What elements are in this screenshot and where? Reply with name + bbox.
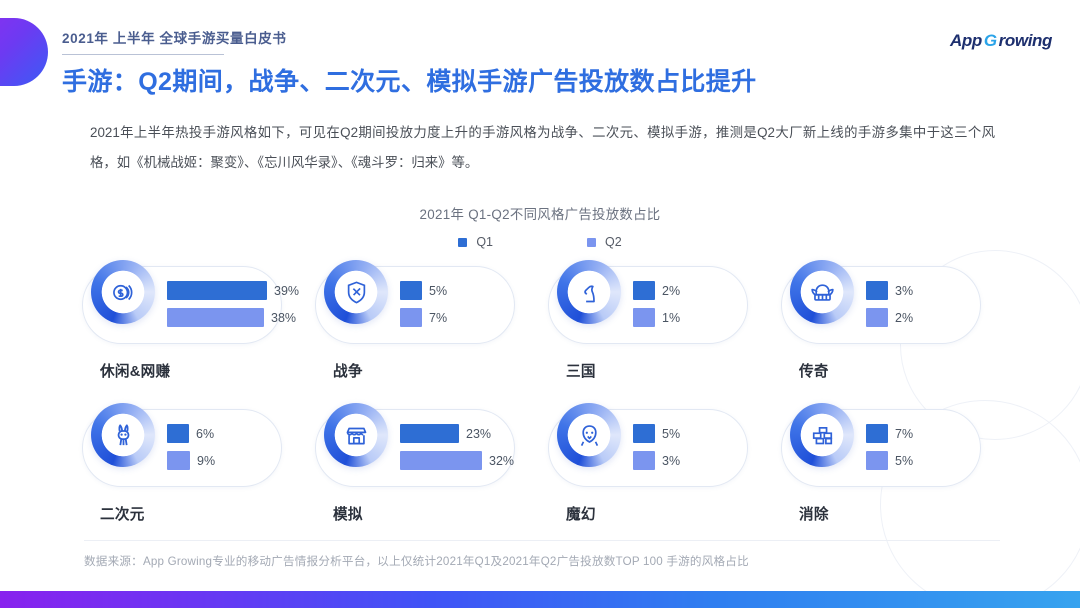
bar-q2 <box>400 451 482 470</box>
genre-bars: 5%3% <box>633 424 741 474</box>
genre-bars: 39%38% <box>167 281 275 331</box>
genre-pill[interactable]: 7%5% <box>781 409 981 487</box>
genre-label: 三国 <box>566 360 769 381</box>
bar-value-q1: 2% <box>662 284 680 298</box>
chart-legend: Q1 Q2 <box>0 235 1080 249</box>
intro-paragraph: 2021年上半年热投手游风格如下，可见在Q2期间投放力度上升的手游风格为战争、二… <box>90 118 995 178</box>
bar-value-q1: 23% <box>466 427 491 441</box>
genre-bars: 6%9% <box>167 424 275 474</box>
bar-row-q1: 6% <box>167 424 275 443</box>
genre-label: 休闲&网赚 <box>100 360 303 381</box>
bar-value-q2: 38% <box>271 311 296 325</box>
genre-bars: 23%32% <box>400 424 508 474</box>
chart-title: 2021年 Q1-Q2不同风格广告投放数占比 <box>0 203 1080 223</box>
genre-label: 模拟 <box>333 503 536 524</box>
bar-q1 <box>633 281 655 300</box>
genre-cell: 7%5%消除 <box>781 409 1002 524</box>
knight-chess-icon <box>557 260 621 324</box>
genre-pill[interactable]: 23%32% <box>315 409 515 487</box>
genre-bars: 7%5% <box>866 424 974 474</box>
bar-q1 <box>866 281 888 300</box>
bar-q2 <box>866 308 888 327</box>
genre-bars: 5%7% <box>400 281 508 331</box>
bar-value-q1: 3% <box>895 284 913 298</box>
bunny-icon <box>91 403 155 467</box>
vampire-face-icon <box>557 403 621 467</box>
genre-grid: 39%38%休闲&网赚5%7%战争2%1%三国3%2%传奇6%9%二次元23%3… <box>82 266 1002 524</box>
bar-value-q1: 39% <box>274 284 299 298</box>
bar-q1 <box>400 281 422 300</box>
bar-q1 <box>633 424 655 443</box>
bar-row-q1: 7% <box>866 424 974 443</box>
bar-row-q1: 3% <box>866 281 974 300</box>
shop-icon <box>324 403 388 467</box>
legend-swatch-q1 <box>458 238 467 247</box>
bar-value-q1: 6% <box>196 427 214 441</box>
genre-pill[interactable]: 5%3% <box>548 409 748 487</box>
genre-cell: 2%1%三国 <box>548 266 769 381</box>
bar-value-q2: 1% <box>662 311 680 325</box>
bar-value-q2: 7% <box>429 311 447 325</box>
genre-label: 战争 <box>333 360 536 381</box>
bar-q2 <box>633 451 655 470</box>
bar-row-q1: 5% <box>633 424 741 443</box>
bar-row-q2: 38% <box>167 308 275 327</box>
bar-value-q1: 5% <box>662 427 680 441</box>
genre-cell: 3%2%传奇 <box>781 266 1002 381</box>
bar-row-q2: 3% <box>633 451 741 470</box>
coins-icon <box>91 260 155 324</box>
genre-label: 二次元 <box>100 503 303 524</box>
bar-row-q1: 5% <box>400 281 508 300</box>
bar-q2 <box>167 308 264 327</box>
slide-page: 2021年 上半年 全球手游买量白皮书 手游：Q2期间，战争、二次元、模拟手游广… <box>0 0 1080 608</box>
bar-value-q2: 3% <box>662 454 680 468</box>
kicker-divider <box>62 54 224 55</box>
legend-swatch-q2 <box>587 238 596 247</box>
bar-row-q1: 23% <box>400 424 508 443</box>
bar-q2 <box>400 308 422 327</box>
legend-label-q2: Q2 <box>605 235 622 249</box>
header: 2021年 上半年 全球手游买量白皮书 <box>62 27 622 55</box>
genre-pill[interactable]: 6%9% <box>82 409 282 487</box>
bar-row-q1: 2% <box>633 281 741 300</box>
source-note: 数据来源：App Growing专业的移动广告情报分析平台，以上仅统计2021年… <box>84 553 749 569</box>
genre-cell: 23%32%模拟 <box>315 409 536 524</box>
bar-q1 <box>866 424 888 443</box>
brand-text-g: G <box>984 31 997 51</box>
page-title: 手游：Q2期间，战争、二次元、模拟手游广告投放数占比提升 <box>62 62 757 98</box>
bar-value-q1: 7% <box>895 427 913 441</box>
bar-q1 <box>400 424 459 443</box>
brand-text-rest: rowing <box>999 31 1052 51</box>
shield-sword-icon <box>324 260 388 324</box>
bar-q1 <box>167 424 189 443</box>
genre-cell: 6%9%二次元 <box>82 409 303 524</box>
bar-row-q2: 1% <box>633 308 741 327</box>
corner-accent-shape <box>0 18 48 86</box>
bar-value-q2: 32% <box>489 454 514 468</box>
bar-row-q1: 39% <box>167 281 275 300</box>
legend-item-q1: Q1 <box>458 235 493 249</box>
brand-text-app: App <box>950 31 982 51</box>
genre-cell: 39%38%休闲&网赚 <box>82 266 303 381</box>
genre-label: 消除 <box>799 503 1002 524</box>
genre-label: 传奇 <box>799 360 1002 381</box>
legend-label-q1: Q1 <box>476 235 493 249</box>
bar-q1 <box>167 281 267 300</box>
genre-pill[interactable]: 39%38% <box>82 266 282 344</box>
bar-value-q1: 5% <box>429 284 447 298</box>
genre-pill[interactable]: 5%7% <box>315 266 515 344</box>
legend-item-q2: Q2 <box>587 235 622 249</box>
bar-row-q2: 5% <box>866 451 974 470</box>
bar-value-q2: 5% <box>895 454 913 468</box>
bar-row-q2: 9% <box>167 451 275 470</box>
genre-label: 魔幻 <box>566 503 769 524</box>
genre-bars: 3%2% <box>866 281 974 331</box>
brand-logo: App G rowing <box>950 31 1052 51</box>
bar-value-q2: 9% <box>197 454 215 468</box>
bar-q2 <box>633 308 655 327</box>
genre-pill[interactable]: 2%1% <box>548 266 748 344</box>
footer-divider <box>84 540 1000 541</box>
horned-helmet-icon <box>790 260 854 324</box>
bar-value-q2: 2% <box>895 311 913 325</box>
genre-cell: 5%7%战争 <box>315 266 536 381</box>
genre-pill[interactable]: 3%2% <box>781 266 981 344</box>
bar-q2 <box>866 451 888 470</box>
blocks-icon <box>790 403 854 467</box>
bar-q2 <box>167 451 190 470</box>
bottom-accent-bar <box>0 591 1080 608</box>
kicker-text: 2021年 上半年 全球手游买量白皮书 <box>62 27 622 47</box>
bar-row-q2: 32% <box>400 451 508 470</box>
genre-cell: 5%3%魔幻 <box>548 409 769 524</box>
genre-bars: 2%1% <box>633 281 741 331</box>
bar-row-q2: 7% <box>400 308 508 327</box>
bar-row-q2: 2% <box>866 308 974 327</box>
